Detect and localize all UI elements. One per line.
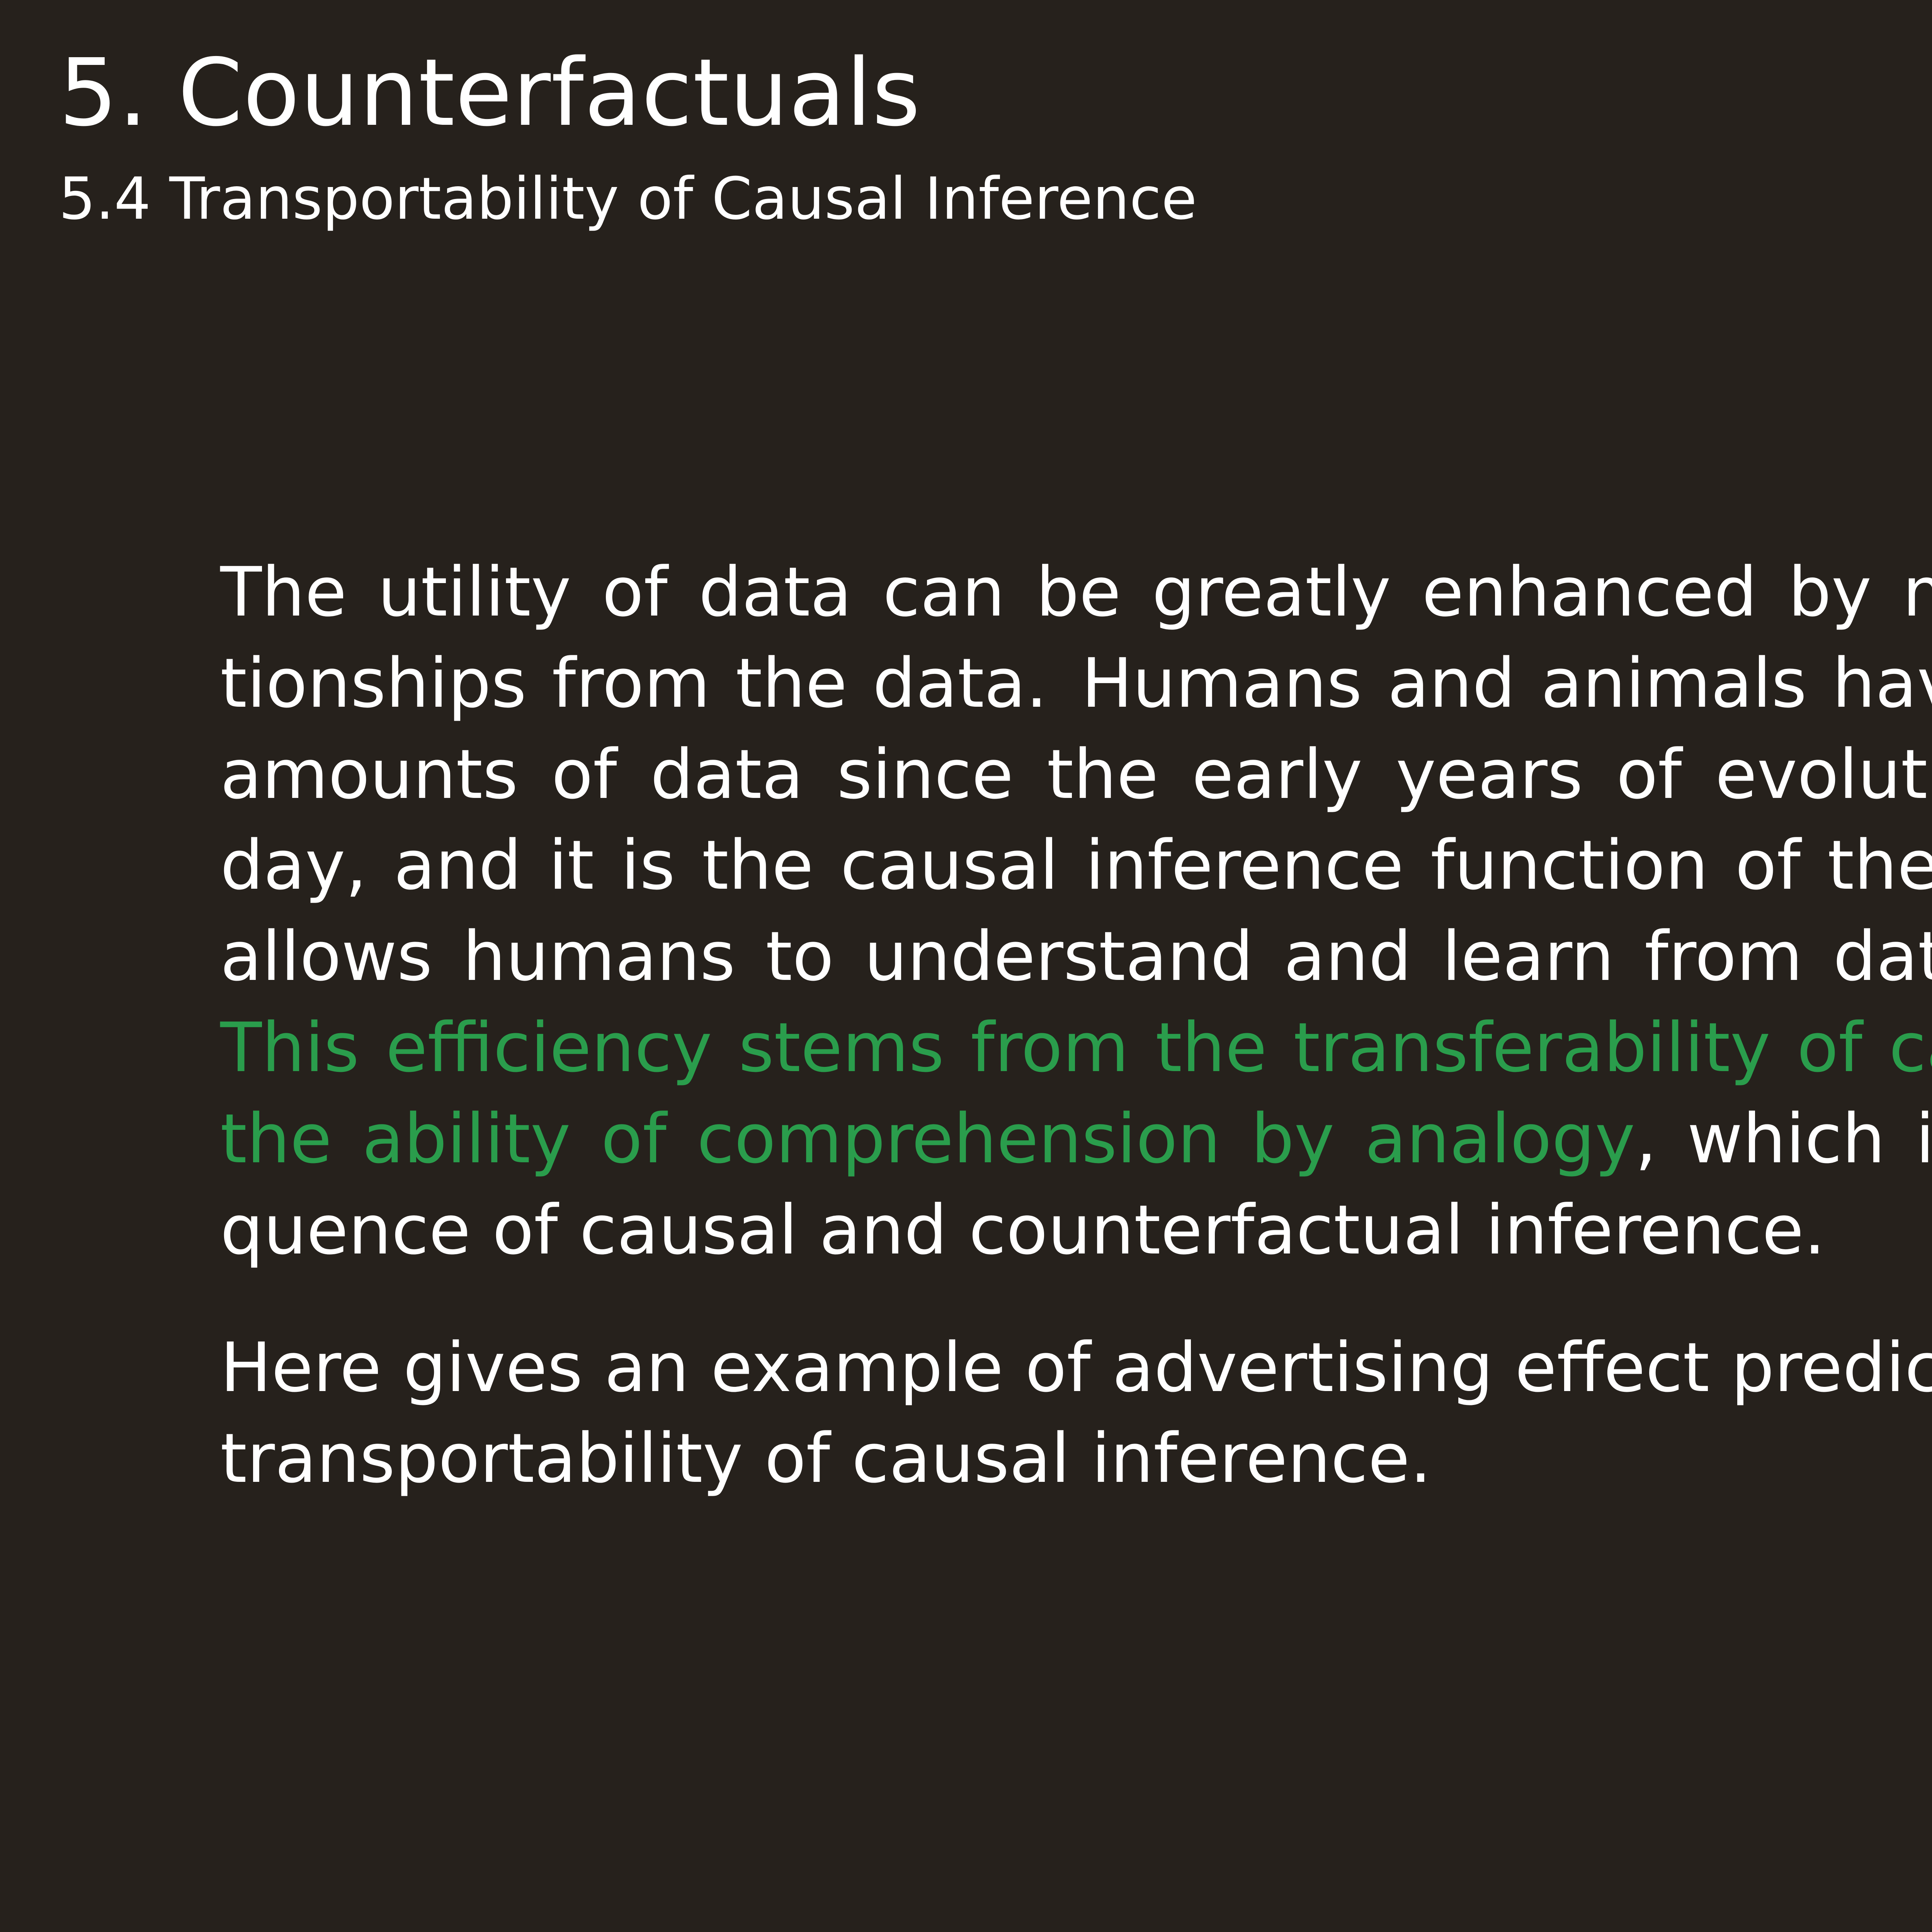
paragraph-1: The utility of data can be greatly enhan… [220, 547, 1932, 1276]
paragraph-1-text-before: The utility of data can be greatly enhan… [220, 553, 1932, 996]
page-title: 5. Counterfactuals [59, 46, 1932, 139]
slide-header: 5. Counterfactuals 5.4 Transportability … [59, 46, 1932, 228]
beamer-slide: 5. Counterfactuals 5.4 Transportability … [0, 0, 1932, 1932]
page-subtitle: 5.4 Transportability of Causal Inference [59, 170, 1932, 228]
paragraph-2: Here gives an example of advertising eff… [220, 1322, 1932, 1505]
slide-body: The utility of data can be greatly enhan… [220, 547, 1932, 1504]
